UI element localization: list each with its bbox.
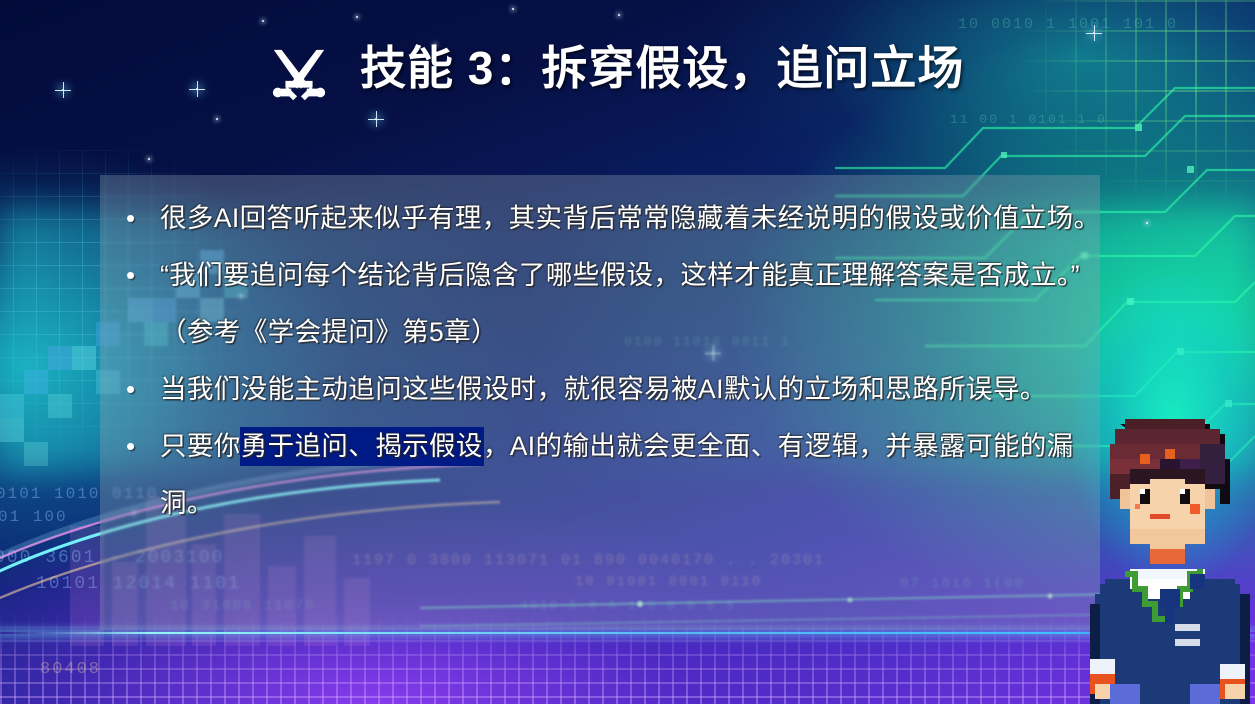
page-title-text: 技能 3：拆穿假设，追问立场 — [360, 40, 1048, 96]
star-decoration — [375, 118, 377, 120]
selected-text-highlight[interactable]: 勇于追问、揭示假设 — [241, 428, 483, 465]
star-decoration — [216, 118, 218, 120]
bullet-list: 很多AI回答听起来似乎有理，其实背后常常隐藏着未经说明的假设或价值立场。 “我们… — [118, 190, 1108, 532]
crossed-swords-icon — [268, 46, 330, 108]
star-decoration — [196, 88, 198, 90]
star-decoration — [512, 8, 514, 10]
avatar — [1085, 404, 1255, 704]
list-item[interactable]: “我们要追问每个结论背后隐含了哪些假设，这样才能真正理解答案是否成立。” （参考… — [118, 247, 1108, 361]
page-title: 技能 3：拆穿假设，追问立场 — [268, 40, 1048, 96]
list-item[interactable]: 当我们没能主动追问这些假设时，就很容易被AI默认的立场和思路所误导。 — [118, 361, 1108, 418]
star-decoration — [356, 16, 358, 18]
slide-title-block: 技能 3：拆穿假设，追问立场 — [268, 40, 1048, 96]
star-decoration — [148, 158, 150, 160]
star-decoration — [62, 89, 64, 91]
star-decoration — [1093, 32, 1095, 34]
list-item-with-selection[interactable]: 只要你勇于追问、揭示假设，AI的输出就会更全面、有逻辑，并暴露可能的漏洞。 — [118, 418, 1108, 532]
list-item[interactable]: 很多AI回答听起来似乎有理，其实背后常常隐藏着未经说明的假设或价值立场。 — [118, 190, 1108, 247]
star-decoration — [1146, 222, 1148, 224]
presentation-slide: 0101 1010 0110 01 100 000 3601 - 2003100… — [0, 0, 1255, 704]
star-decoration — [262, 20, 264, 22]
bullet-text-prefix: 只要你 — [160, 431, 241, 461]
star-decoration — [618, 14, 620, 16]
